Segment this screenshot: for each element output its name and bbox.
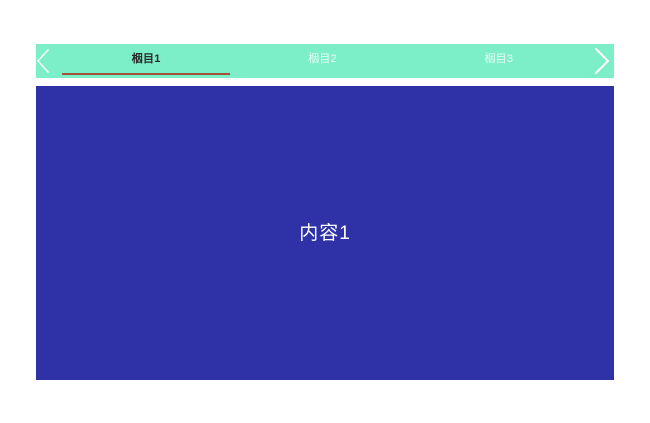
- tab-item-2[interactable]: 栶目2: [234, 44, 410, 78]
- tab-item-2-label: 栶目2: [308, 54, 337, 65]
- active-tab-indicator: [62, 73, 230, 75]
- tab-item-3[interactable]: 栶目3: [411, 44, 587, 78]
- tab-list: 栶目1 栶目2 栶目3: [58, 44, 587, 78]
- page-root: 栶目1 栶目2 栶目3 内容1: [0, 0, 650, 423]
- next-arrow-button[interactable]: [587, 44, 613, 78]
- tab-item-1-label: 栶目1: [132, 54, 161, 65]
- tab-bar: 栶目1 栶目2 栶目3: [36, 44, 614, 78]
- chevron-left-icon: [32, 46, 54, 76]
- chevron-right-icon: [589, 45, 613, 77]
- tab-item-1[interactable]: 栶目1: [58, 44, 234, 78]
- content-panel-label: 内容1: [299, 224, 351, 243]
- content-panel: 内容1: [36, 86, 614, 380]
- prev-arrow-button[interactable]: [32, 44, 58, 78]
- tab-item-3-label: 栶目3: [484, 54, 513, 65]
